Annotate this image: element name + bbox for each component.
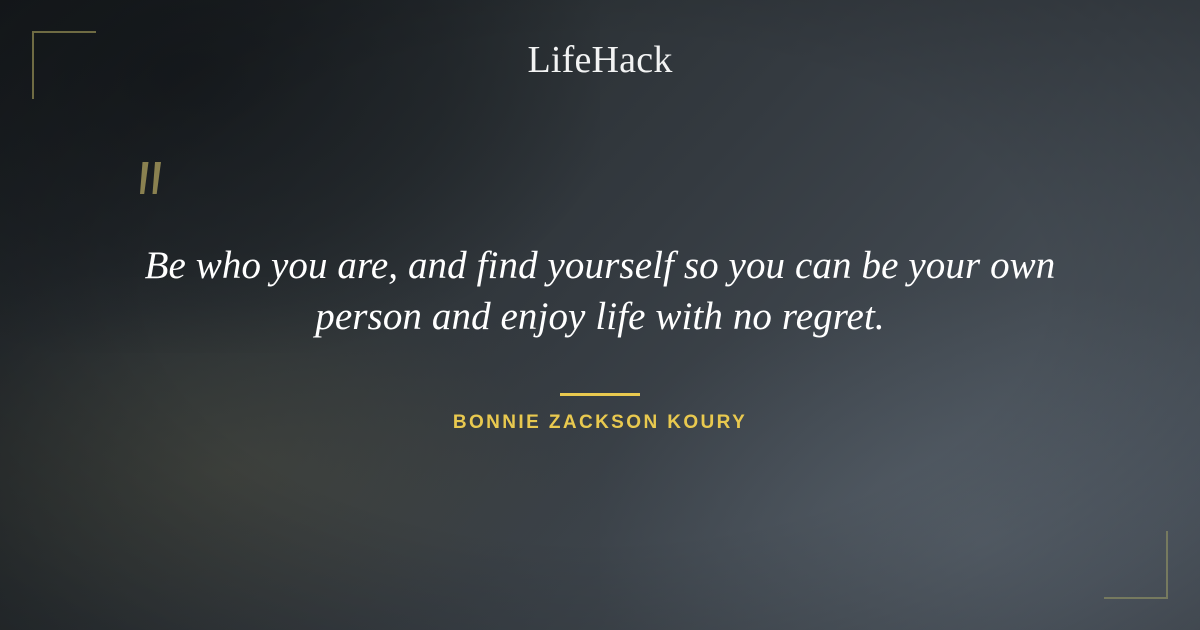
- quote-block: Be who you are, and find yourself so you…: [0, 240, 1200, 342]
- quote-text: Be who you are, and find yourself so you…: [120, 240, 1080, 342]
- accent-divider: [560, 393, 640, 396]
- brand-logo: LifeHack: [0, 38, 1200, 82]
- divider-container: [0, 383, 1200, 401]
- author-name: BONNIE ZACKSON KOURY: [453, 412, 747, 433]
- quote-line-2: person and enjoy life with no regret.: [315, 295, 885, 338]
- double-prime-quote-icon: [126, 158, 186, 218]
- quote-line-1: Be who you are, and find yourself so you…: [145, 244, 1056, 287]
- quote-card: LifeHack Be who you are, and find yourse…: [0, 0, 1200, 630]
- attribution-container: BONNIE ZACKSON KOURY: [0, 412, 1200, 434]
